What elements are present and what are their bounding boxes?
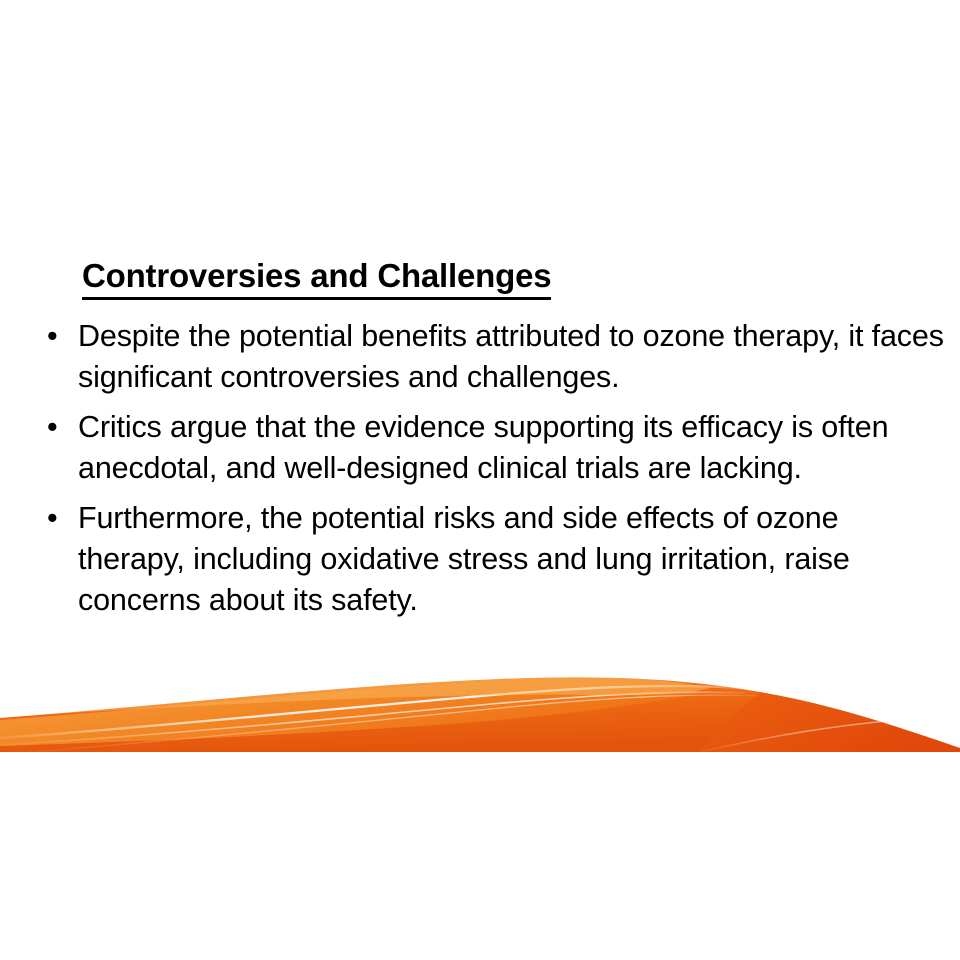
list-item-text: Despite the potential benefits attribute… (78, 319, 944, 394)
bullet-point-icon: • (47, 316, 58, 357)
list-item: • Furthermore, the potential risks and s… (40, 498, 945, 621)
list-item: • Critics argue that the evidence suppor… (40, 407, 945, 489)
list-item-text: Critics argue that the evidence supporti… (78, 410, 888, 485)
bullet-point-icon: • (47, 407, 58, 448)
list-item: • Despite the potential benefits attribu… (40, 316, 945, 398)
bullet-list: • Despite the potential benefits attribu… (40, 316, 945, 621)
slide-content: Controversies and Challenges • Despite t… (0, 0, 960, 960)
slide-canvas: Controversies and Challenges • Despite t… (0, 0, 960, 960)
page-title: Controversies and Challenges (82, 256, 551, 300)
bullet-point-icon: • (47, 498, 58, 539)
list-item-text: Furthermore, the potential risks and sid… (78, 501, 850, 617)
